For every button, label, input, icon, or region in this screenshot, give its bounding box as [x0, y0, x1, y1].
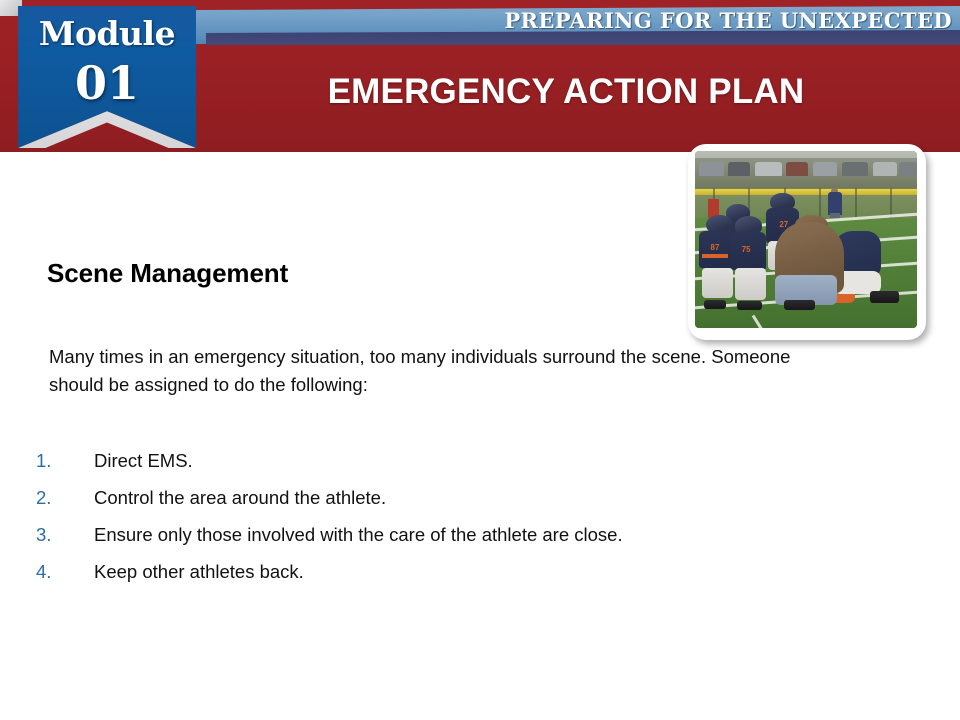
photo-car	[699, 162, 723, 176]
module-label: Module	[22, 14, 192, 53]
photo-frame: 87 75 27	[688, 144, 926, 340]
list-item: 2. Control the area around the athlete.	[36, 487, 856, 524]
photo-jersey-stripe	[702, 254, 729, 258]
photo-car	[842, 162, 869, 176]
list-item-text: Ensure only those involved with the care…	[94, 524, 623, 546]
photo-car	[786, 162, 808, 176]
list-item-number: 3.	[36, 524, 94, 546]
photo-jersey-number: 75	[742, 245, 751, 254]
list-item: 4. Keep other athletes back.	[36, 561, 856, 598]
slide-header: PREPARING FOR THE UNEXPECTED Module 01 E…	[0, 0, 960, 152]
list-item-text: Direct EMS.	[94, 450, 193, 472]
list-item-number: 1.	[36, 450, 94, 472]
photo-player-cleat	[737, 301, 761, 310]
list-item: 1. Direct EMS.	[36, 450, 856, 487]
photo-car	[728, 162, 750, 176]
photo-car	[813, 162, 837, 176]
list-item: 3. Ensure only those involved with the c…	[36, 524, 856, 561]
photo-car	[755, 162, 782, 176]
photo-car	[899, 162, 917, 176]
field-injury-photo: 87 75 27	[695, 151, 917, 328]
photo-player-cleat	[704, 300, 726, 309]
body-paragraph: Many times in an emergency situation, to…	[49, 343, 849, 399]
page-title: EMERGENCY ACTION PLAN	[196, 72, 936, 112]
photo-bystander-body	[828, 192, 841, 215]
photo-jersey-number: 87	[711, 243, 720, 252]
photo-coach-shoe	[784, 300, 815, 311]
photo-player-pants	[735, 268, 766, 300]
list-item-number: 4.	[36, 561, 94, 583]
photo-car	[873, 162, 897, 176]
section-heading: Scene Management	[47, 258, 288, 289]
kicker-text: PREPARING FOR THE UNEXPECTED	[504, 8, 952, 33]
list-item-text: Keep other athletes back.	[94, 561, 304, 583]
photo-fence-rail	[695, 189, 917, 195]
steps-list: 1. Direct EMS. 2. Control the area aroun…	[36, 450, 856, 598]
photo-injured-player-cleat	[870, 291, 899, 303]
list-item-text: Control the area around the athlete.	[94, 487, 386, 509]
list-item-number: 2.	[36, 487, 94, 509]
module-number: 01	[22, 56, 192, 110]
photo-player-pants	[702, 268, 733, 298]
